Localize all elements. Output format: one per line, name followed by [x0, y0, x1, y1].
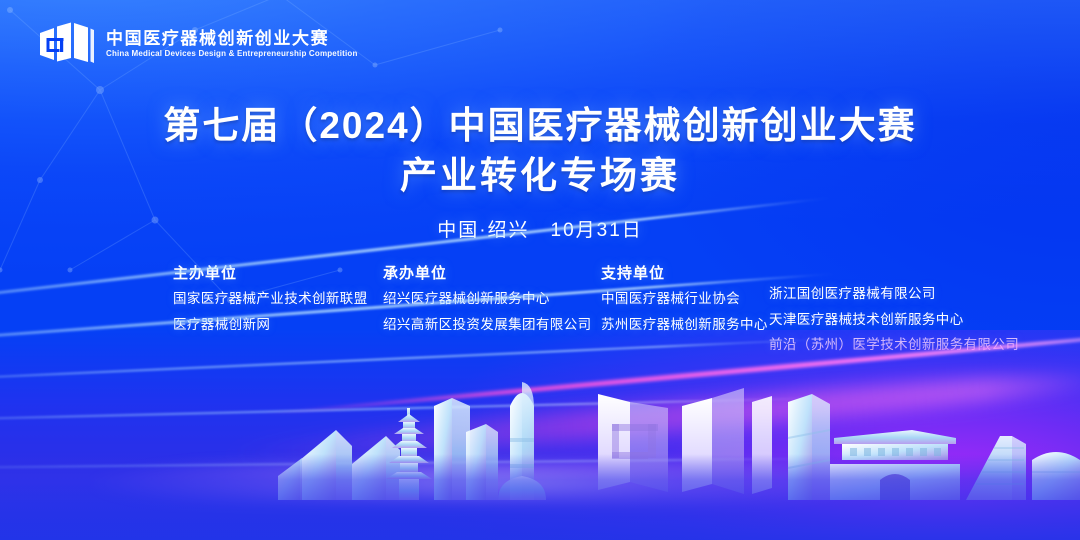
poster-title-block: 第七届（2024）中国医疗器械创新创业大赛 产业转化专场赛 中国·绍兴 10月3… [0, 104, 1080, 242]
brand-name-cn: 中国医疗器械创新创业大赛 [106, 30, 358, 47]
organizer-heading: 支持单位 [601, 262, 769, 283]
competition-door-logo-icon [38, 22, 94, 66]
organizer-heading: 承办单位 [383, 262, 601, 283]
brand-header: 中国医疗器械创新创业大赛 China Medical Devices Desig… [38, 22, 358, 66]
scene-ground-plate [0, 454, 1080, 540]
organizer-heading: 主办单位 [173, 262, 383, 283]
organizer-item: 医疗器械创新网 [173, 318, 383, 332]
organizer-item: 绍兴医疗器械创新服务中心 [383, 292, 601, 306]
city-scene [0, 330, 1080, 540]
organizer-item: 绍兴高新区投资发展集团有限公司 [383, 318, 601, 332]
organizer-item: 天津医疗器械技术创新服务中心 [769, 313, 1025, 327]
brand-name-block: 中国医疗器械创新创业大赛 China Medical Devices Desig… [106, 30, 358, 58]
poster-title-line1: 第七届（2024）中国医疗器械创新创业大赛 [0, 104, 1080, 148]
brand-name-en: China Medical Devices Design & Entrepren… [106, 50, 358, 58]
organizer-item: 中国医疗器械行业协会 [601, 292, 769, 306]
poster-canvas: 中国医疗器械创新创业大赛 China Medical Devices Desig… [0, 0, 1080, 540]
organizer-item: 国家医疗器械产业技术创新联盟 [173, 292, 383, 306]
organizer-item: 浙江国创医疗器械有限公司 [769, 287, 1025, 301]
poster-subtitle-location-date: 中国·绍兴 10月31日 [0, 215, 1080, 242]
organizer-item: 苏州医疗器械创新服务中心 [601, 318, 769, 332]
poster-title-line2: 产业转化专场赛 [0, 154, 1080, 198]
